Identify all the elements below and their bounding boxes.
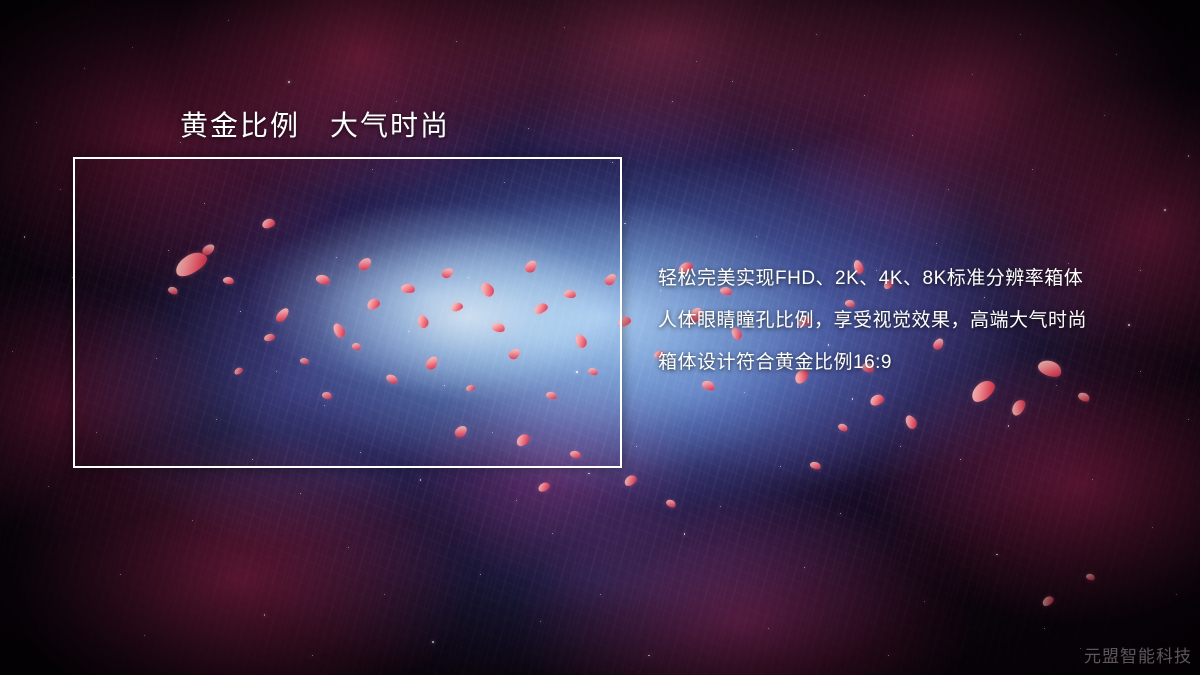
feature-line-1: 轻松完美实现FHD、2K、4K、8K标准分辨率箱体 (658, 258, 1087, 300)
panel-inner-scene (73, 157, 622, 468)
panel-vignette-overlay (73, 157, 622, 468)
feature-line-3: 箱体设计符合黄金比例16:9 (658, 342, 1087, 384)
page-title: 黄金比例 大气时尚 (180, 104, 450, 144)
brand-watermark: 元盟智能科技 (1084, 642, 1192, 667)
nebula-preview-panel[interactable] (73, 157, 622, 468)
feature-line-2: 人体眼睛瞳孔比例，享受视觉效果，高端大气时尚 (658, 300, 1087, 342)
feature-description: 轻松完美实现FHD、2K、4K、8K标准分辨率箱体 人体眼睛瞳孔比例，享受视觉效… (658, 258, 1087, 384)
slide-canvas: 黄金比例 大气时尚 轻松完美实现FHD、2K、4K、8K标准分辨率箱体 人体眼睛… (0, 0, 1200, 675)
